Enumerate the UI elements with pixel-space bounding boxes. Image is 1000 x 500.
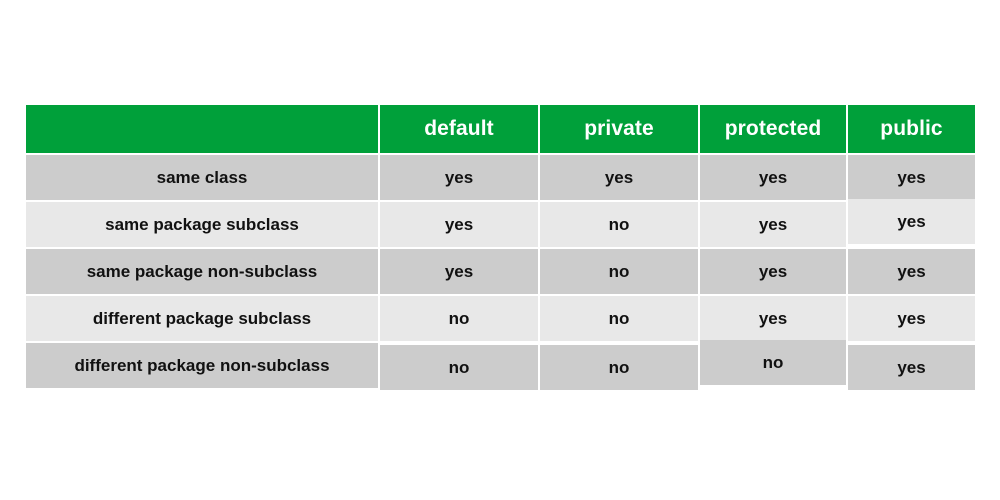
table-row: same package non-subclass yes no yes yes [26,249,975,294]
cell-different-package-subclass-private: no [540,296,698,341]
row-label-same-package-subclass: same package subclass [26,202,378,247]
cell-same-package-non-subclass-default: yes [380,249,538,294]
row-label-same-package-non-subclass: same package non-subclass [26,249,378,294]
table-body: same class yes yes yes yes same package … [26,155,975,388]
header-cell-default: default [380,105,538,153]
cell-different-package-subclass-default: no [380,296,538,341]
header-cell-corner [26,105,378,153]
header-row: default private protected public [26,105,975,153]
cell-same-package-non-subclass-public: yes [848,249,975,294]
cell-same-class-public: yes [848,155,975,200]
cell-same-package-subclass-public: yes [848,199,975,244]
cell-different-package-non-subclass-default: no [380,345,538,390]
page-canvas: default private protected public same cl… [0,0,1000,500]
cell-same-package-subclass-protected: yes [700,202,846,247]
table-row: same class yes yes yes yes [26,155,975,200]
row-label-different-package-non-subclass: different package non-subclass [26,343,378,388]
cell-different-package-non-subclass-private: no [540,345,698,390]
cell-same-class-protected: yes [700,155,846,200]
table-row: different package non-subclass no no no … [26,343,975,388]
header-cell-private: private [540,105,698,153]
cell-different-package-non-subclass-protected: no [700,340,846,385]
cell-same-package-subclass-private: no [540,202,698,247]
cell-different-package-non-subclass-public: yes [848,345,975,390]
header-cell-public: public [848,105,975,153]
header-cell-protected: protected [700,105,846,153]
cell-same-class-private: yes [540,155,698,200]
table-header: default private protected public [26,105,975,153]
cell-same-package-subclass-default: yes [380,202,538,247]
access-modifier-table: default private protected public same cl… [24,103,977,390]
row-label-different-package-subclass: different package subclass [26,296,378,341]
row-label-same-class: same class [26,155,378,200]
cell-same-package-non-subclass-private: no [540,249,698,294]
table-row: same package subclass yes no yes yes [26,202,975,247]
cell-different-package-subclass-public: yes [848,296,975,341]
table-row: different package subclass no no yes yes [26,296,975,341]
cell-same-package-non-subclass-protected: yes [700,249,846,294]
cell-different-package-subclass-protected: yes [700,296,846,341]
cell-same-class-default: yes [380,155,538,200]
